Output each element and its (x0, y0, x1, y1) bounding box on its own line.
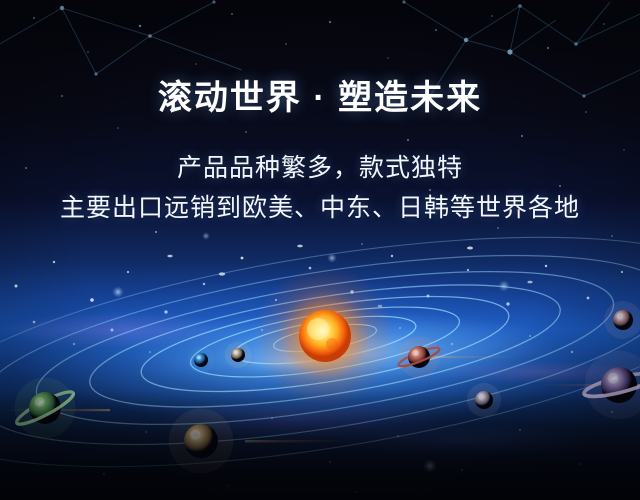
grey-moon (225, 342, 252, 369)
solar-system-illustration (0, 0, 640, 500)
subtitle-line-1: 产品品种繁多，款式独特 (0, 152, 640, 184)
grey-moon-body (231, 348, 245, 362)
page-title: 滚动世界 · 塑造未来 (0, 78, 640, 118)
subtitle-line-2: 主要出口远销到欧美、中东、日韩等世界各地 (0, 192, 640, 224)
red-ringed-planet-ring (397, 344, 441, 369)
purple-ringed-planet (582, 351, 640, 419)
green-ringed-planet-body (29, 392, 61, 424)
red-ringed-planet (397, 336, 441, 378)
sky-gradient-background (0, 0, 640, 500)
galaxy-disc-glow (0, 0, 640, 500)
pink-small-planet-body (613, 310, 633, 330)
tan-planet (169, 409, 234, 474)
tan-planet-body (184, 424, 218, 458)
lilac-small-planet (467, 383, 501, 417)
lilac-small-planet-body (475, 391, 493, 409)
green-ringed-planet (14, 378, 77, 439)
vignette-overlay (0, 0, 640, 500)
sun (255, 266, 395, 406)
space-promo-banner: 滚动世界 · 塑造未来 产品品种繁多，款式独特 主要出口远销到欧美、中东、日韩等… (0, 0, 640, 500)
orbit-rings (0, 193, 640, 500)
green-ringed-planet-ring (14, 387, 77, 429)
purple-ringed-planet-body (601, 367, 637, 403)
purple-ringed-planet-ring (582, 369, 640, 401)
blue-earth-planet-body (194, 353, 208, 367)
blue-earth-planet (188, 347, 215, 374)
nebula-clouds (0, 0, 640, 500)
constellation-network (0, 0, 640, 500)
planet-group (14, 301, 640, 473)
starfield (0, 0, 640, 500)
red-ringed-planet-body (408, 346, 430, 368)
pink-small-planet (604, 301, 640, 339)
